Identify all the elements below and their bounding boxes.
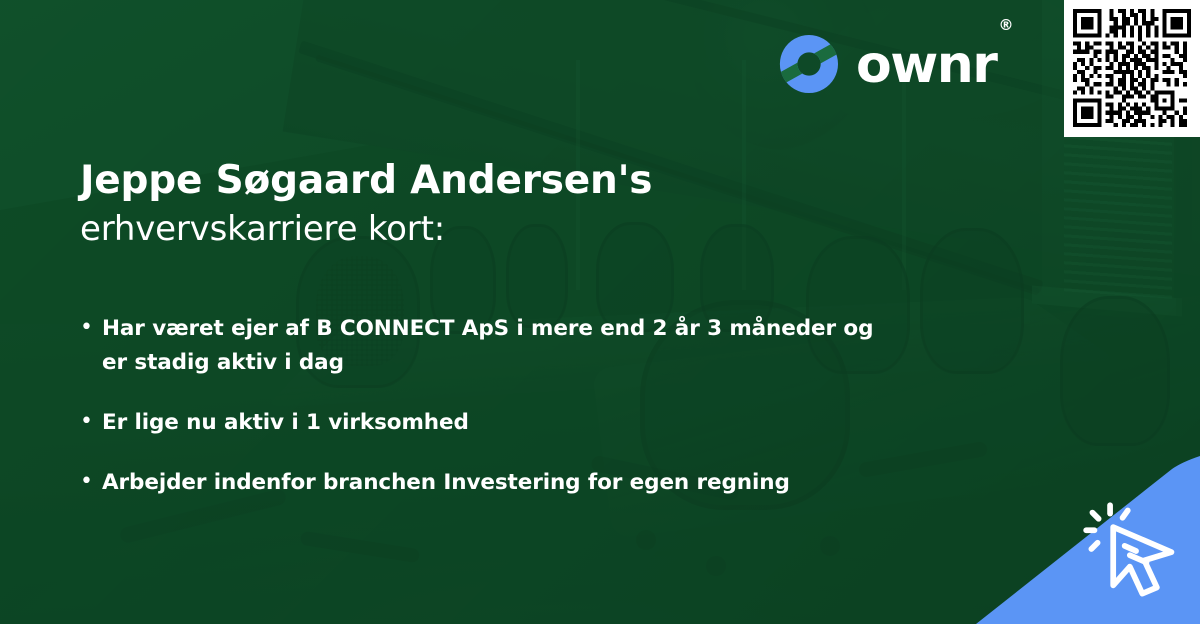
page-title-line2: erhvervskarriere kort: (80, 208, 860, 251)
registered-trademark-icon: ® (998, 16, 1013, 34)
ownr-logo[interactable]: ownr ® (778, 33, 1011, 95)
career-summary-list: • Har været ejer af B CONNECT ApS i mere… (80, 312, 960, 500)
page-title-line1: Jeppe Søgaard Andersen's (80, 158, 860, 204)
qr-code-panel[interactable] (1064, 0, 1200, 137)
list-item-text: Er lige nu aktiv i 1 virksomhed (102, 406, 469, 440)
bullet-icon: • (80, 313, 102, 343)
list-item: • Har været ejer af B CONNECT ApS i mere… (80, 312, 960, 380)
qr-code[interactable] (1073, 9, 1191, 127)
bullet-icon: • (80, 467, 102, 497)
ownr-wordmark: ownr (856, 39, 996, 91)
page-title: Jeppe Søgaard Andersen's erhvervskarrier… (80, 158, 860, 251)
list-item: • Er lige nu aktiv i 1 virksomhed (80, 406, 960, 440)
click-cursor-icon (1082, 498, 1186, 602)
list-item-text: Har været ejer af B CONNECT ApS i mere e… (102, 312, 892, 380)
list-item-text: Arbejder indenfor branchen Investering f… (102, 466, 790, 500)
blue-corner-triangle (976, 456, 1200, 624)
career-card: ownr ® Jeppe Søgaard Andersen's erhvervs… (0, 0, 1200, 624)
bullet-icon: • (80, 407, 102, 437)
ownr-circular-swirl-logo-icon (778, 33, 840, 95)
list-item: • Arbejder indenfor branchen Investering… (80, 466, 960, 500)
